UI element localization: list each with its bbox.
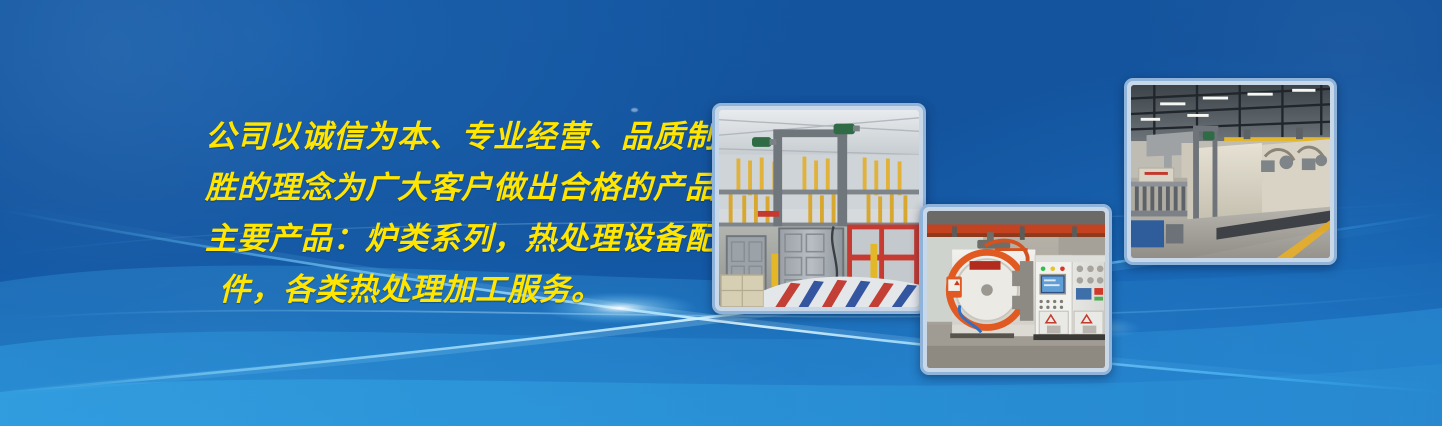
company-banner: 公司以诚信为本、专业经营、品质制 胜的理念为广大客户做出合格的产品。 主要产品：… bbox=[0, 0, 1442, 426]
photo-vacuum-furnace[interactable] bbox=[920, 204, 1112, 375]
banner-copy: 公司以诚信为本、专业经营、品质制 胜的理念为广大客户做出合格的产品。 主要产品：… bbox=[205, 112, 725, 316]
photo-furnace-bell[interactable] bbox=[712, 103, 926, 314]
copy-line-4: 件，各类热处理加工服务。 bbox=[205, 265, 725, 316]
copy-line-3: 主要产品：炉类系列，热处理设备配 bbox=[205, 214, 725, 265]
copy-line-1: 公司以诚信为本、专业经营、品质制 bbox=[205, 112, 725, 163]
photo-furnace-bell-image bbox=[719, 110, 919, 307]
photo-vacuum-furnace-image bbox=[927, 211, 1105, 368]
photo-furnace-line[interactable] bbox=[1124, 78, 1337, 265]
photo-furnace-line-image bbox=[1131, 85, 1330, 258]
copy-line-2: 胜的理念为广大客户做出合格的产品。 bbox=[205, 163, 725, 214]
